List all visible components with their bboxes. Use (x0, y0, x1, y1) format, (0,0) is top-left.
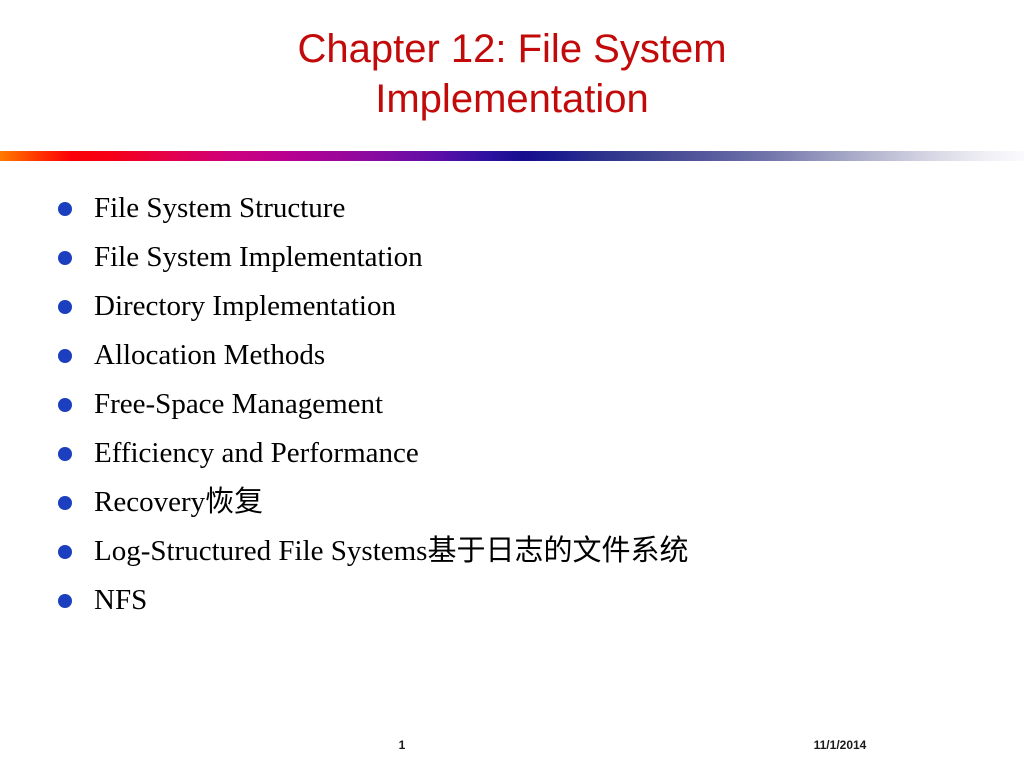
list-item: Efficiency and Performance (0, 436, 1024, 485)
list-item: Log-Structured File Systems基于日志的文件系统 (0, 534, 1024, 583)
list-item: Recovery恢复 (0, 485, 1024, 534)
bullet-dot-icon (58, 594, 72, 608)
slide-canvas: Chapter 12: File System Implementation F… (0, 0, 1024, 768)
list-item-label: Directory Implementation (94, 289, 396, 323)
bullet-dot-icon (58, 300, 72, 314)
footer-date: 11/1/2014 (760, 738, 920, 752)
list-item-label: Log-Structured File Systems基于日志的文件系统 (94, 534, 688, 568)
bullet-dot-icon (58, 202, 72, 216)
list-item-label: Free-Space Management (94, 387, 383, 421)
list-item: NFS (0, 583, 1024, 632)
list-item-label: Recovery恢复 (94, 485, 263, 519)
bullet-dot-icon (58, 251, 72, 265)
list-item-label: File System Structure (94, 191, 345, 225)
bullet-dot-icon (58, 447, 72, 461)
slide-footer: 1 11/1/2014 (0, 738, 1024, 760)
bullet-dot-icon (58, 545, 72, 559)
bullet-dot-icon (58, 496, 72, 510)
bullet-dot-icon (58, 398, 72, 412)
bullet-list: File System Structure File System Implem… (0, 191, 1024, 632)
slide-title: Chapter 12: File System Implementation (0, 24, 1024, 124)
list-item-label: Allocation Methods (94, 338, 325, 372)
title-line-2: Implementation (0, 74, 1024, 124)
list-item: File System Structure (0, 191, 1024, 240)
bullet-dot-icon (58, 349, 72, 363)
page-number: 1 (360, 738, 444, 752)
list-item: Free-Space Management (0, 387, 1024, 436)
list-item: File System Implementation (0, 240, 1024, 289)
list-item: Directory Implementation (0, 289, 1024, 338)
title-divider-gradient-bar (0, 151, 1024, 161)
list-item: Allocation Methods (0, 338, 1024, 387)
list-item-label: File System Implementation (94, 240, 423, 274)
list-item-label: Efficiency and Performance (94, 436, 419, 470)
title-line-1: Chapter 12: File System (0, 24, 1024, 74)
list-item-label: NFS (94, 583, 147, 617)
